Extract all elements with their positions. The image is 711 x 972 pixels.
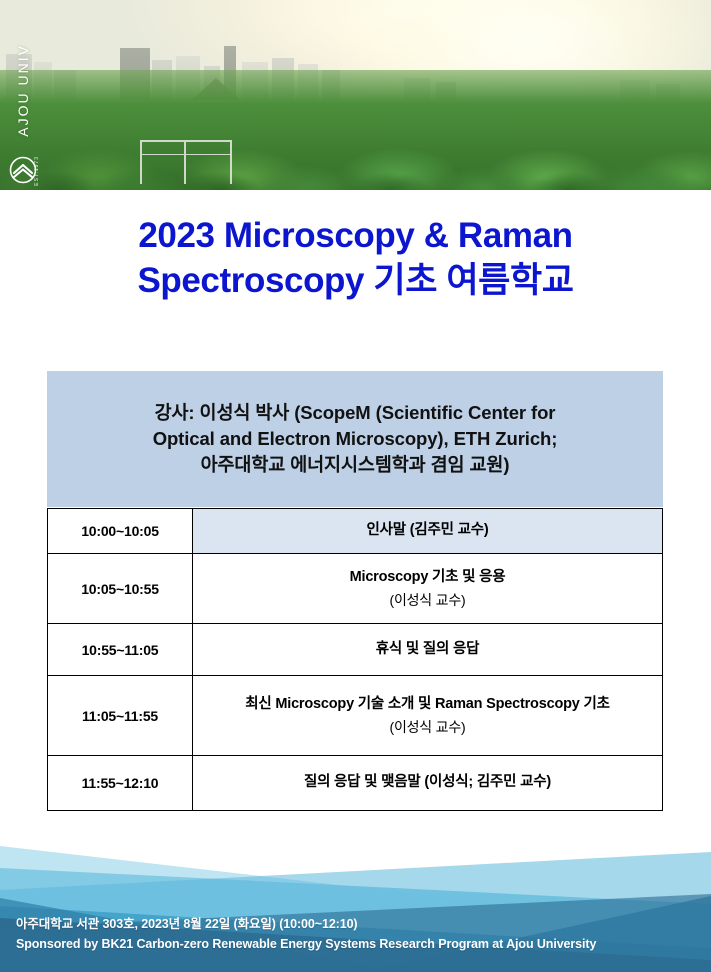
table-row: 10:00~10:05 인사말 (김주민 교수) bbox=[48, 509, 663, 554]
schedule-topic-3: 최신 Microscopy 기술 소개 및 Raman Spectroscopy… bbox=[193, 676, 663, 756]
poster-root: AJOU UNIV EST.1973 2023 Microscopy & Ram… bbox=[0, 0, 711, 972]
schedule-topic-sub-3: (이성식 교수) bbox=[193, 716, 662, 738]
table-row: 11:05~11:55 최신 Microscopy 기술 소개 및 Raman … bbox=[48, 676, 663, 756]
footer-venue-line: 아주대학교 서관 303호, 2023년 8월 22일 (화요일) (10:00… bbox=[16, 914, 596, 934]
schedule-topic-main-4: 질의 응답 및 맺음말 (이성식; 김주민 교수) bbox=[304, 774, 551, 790]
header-campus-photo: AJOU UNIV EST.1973 bbox=[0, 0, 711, 190]
schedule-topic-1: Microscopy 기초 및 응용 (이성식 교수) bbox=[193, 554, 663, 624]
table-row: 10:55~11:05 휴식 및 질의 응답 bbox=[48, 624, 663, 676]
schedule-topic-main-2: 휴식 및 질의 응답 bbox=[376, 641, 479, 657]
schedule-topic-4: 질의 응답 및 맺음말 (이성식; 김주민 교수) bbox=[193, 756, 663, 811]
schedule-topic-main-1: Microscopy 기초 및 응용 bbox=[350, 569, 506, 585]
schedule-time-0: 10:00~10:05 bbox=[48, 509, 193, 554]
footer-sponsor-line: Sponsored by BK21 Carbon-zero Renewable … bbox=[16, 934, 596, 954]
schedule-topic-main-3: 최신 Microscopy 기술 소개 및 Raman Spectroscopy… bbox=[245, 696, 609, 712]
instructor-text: 강사: 이성식 박사 (ScopeM (Scientific Center fo… bbox=[153, 400, 558, 479]
photo-tree-foreground bbox=[0, 124, 711, 190]
ajou-emblem-icon bbox=[9, 156, 37, 184]
ajou-logo-text: AJOU UNIV bbox=[15, 44, 31, 137]
poster-footer: 아주대학교 서관 303호, 2023년 8월 22일 (화요일) (10:00… bbox=[0, 832, 711, 972]
ajou-logo-est: EST.1973 bbox=[34, 156, 40, 186]
schedule-table: 10:00~10:05 인사말 (김주민 교수) 10:05~10:55 Mic… bbox=[47, 508, 663, 811]
instructor-line2: Optical and Electron Microscopy), ETH Zu… bbox=[153, 426, 558, 452]
schedule-topic-main-0: 인사말 (김주민 교수) bbox=[366, 522, 488, 538]
schedule-topic-sub-1: (이성식 교수) bbox=[193, 589, 662, 611]
instructor-line1: 강사: 이성식 박사 (ScopeM (Scientific Center fo… bbox=[153, 400, 558, 426]
poster-title-line1: 2023 Microscopy & Raman bbox=[30, 214, 681, 259]
instructor-banner: 강사: 이성식 박사 (ScopeM (Scientific Center fo… bbox=[47, 371, 663, 507]
schedule-topic-2: 휴식 및 질의 응답 bbox=[193, 624, 663, 676]
table-row: 11:55~12:10 질의 응답 및 맺음말 (이성식; 김주민 교수) bbox=[48, 756, 663, 811]
footer-info: 아주대학교 서관 303호, 2023년 8월 22일 (화요일) (10:00… bbox=[16, 914, 596, 955]
schedule-time-3: 11:05~11:55 bbox=[48, 676, 193, 756]
schedule-time-1: 10:05~10:55 bbox=[48, 554, 193, 624]
photo-pergola bbox=[140, 140, 232, 184]
ajou-university-logo: AJOU UNIV EST.1973 bbox=[6, 44, 40, 184]
poster-title-line2: Spectroscopy 기초 여름학교 bbox=[30, 259, 681, 304]
schedule-time-4: 11:55~12:10 bbox=[48, 756, 193, 811]
poster-title: 2023 Microscopy & Raman Spectroscopy 기초 … bbox=[30, 214, 681, 304]
schedule-topic-0: 인사말 (김주민 교수) bbox=[193, 509, 663, 554]
table-row: 10:05~10:55 Microscopy 기초 및 응용 (이성식 교수) bbox=[48, 554, 663, 624]
instructor-line3: 아주대학교 에너지시스템학과 겸임 교원) bbox=[153, 452, 558, 478]
schedule-time-2: 10:55~11:05 bbox=[48, 624, 193, 676]
